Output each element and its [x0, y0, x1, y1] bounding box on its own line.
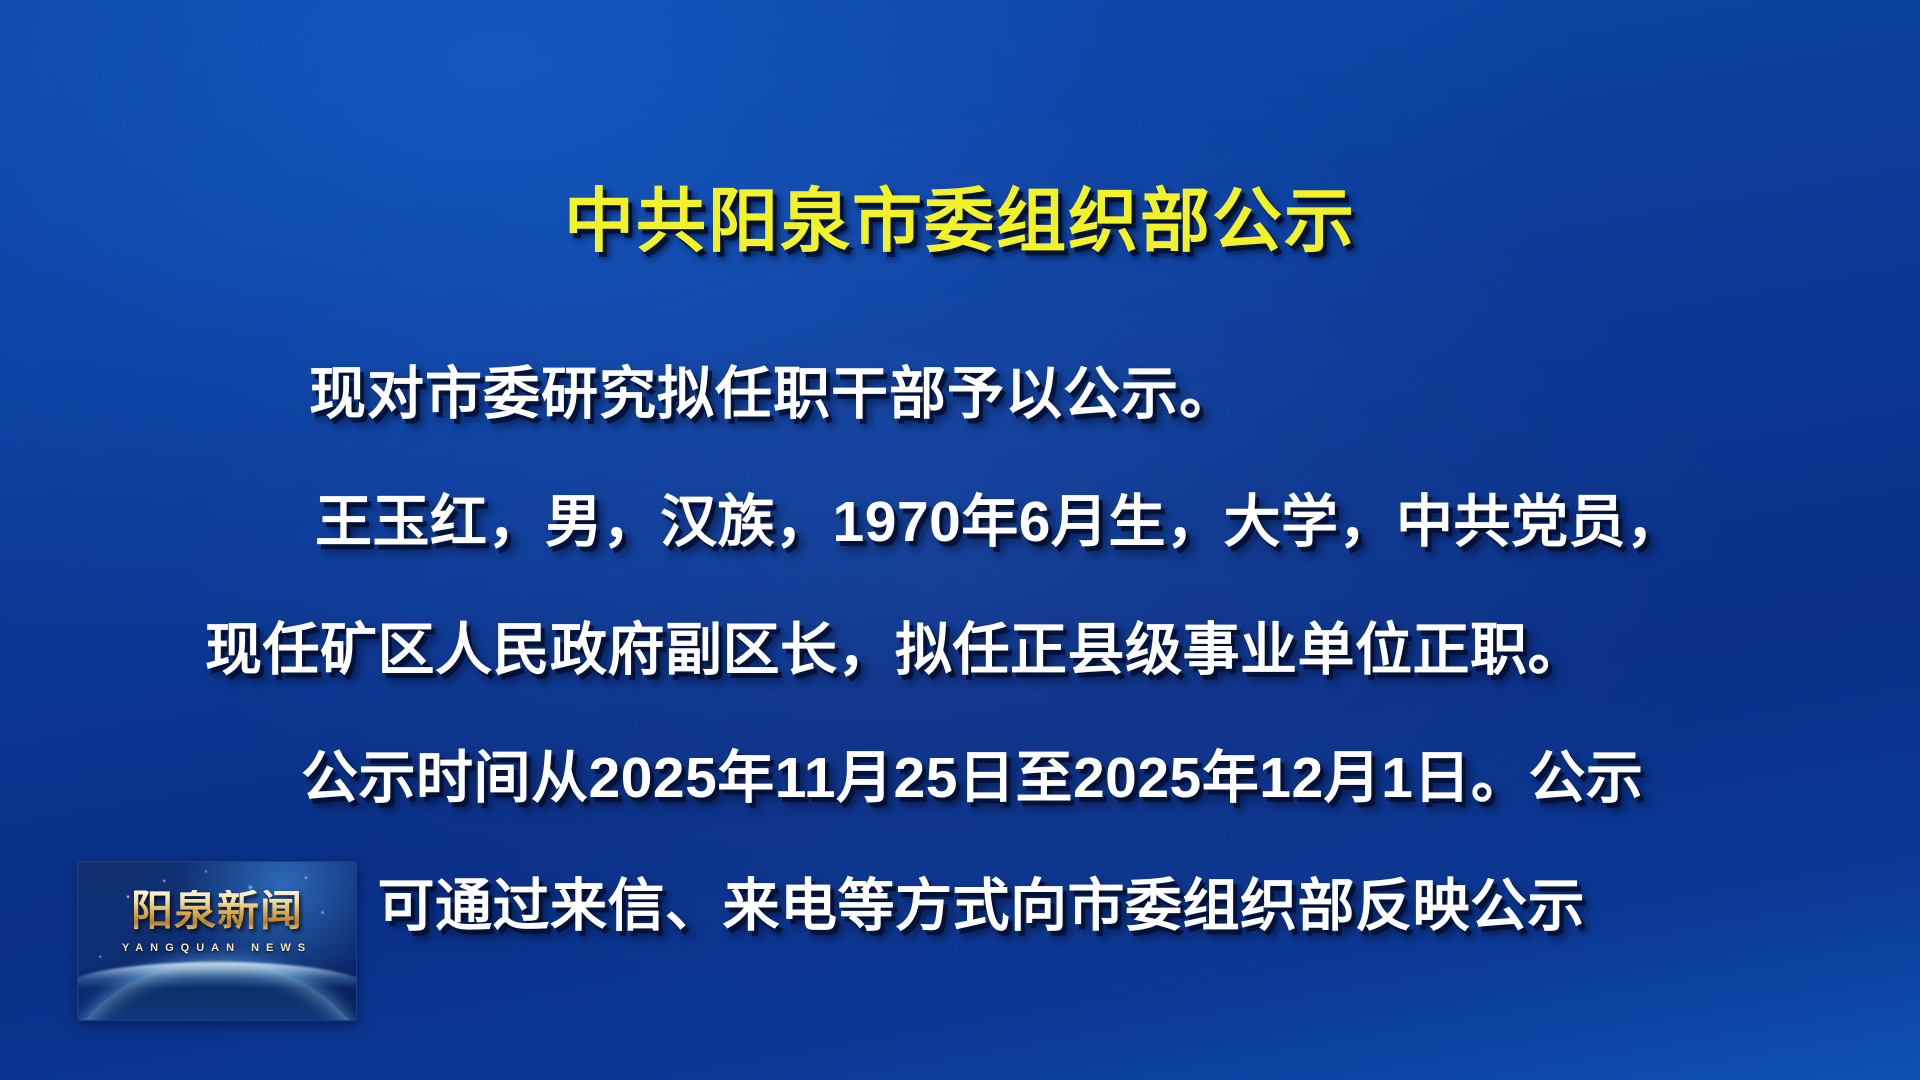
- announcement-body: 现对市委研究拟任职干部予以公示。 王玉红，男，汉族，1970年6月生，大学，中共…: [205, 330, 1725, 970]
- body-line: 公示时间从2025年11月25日至2025年12月1日。公示: [205, 714, 1725, 842]
- station-logo-subtitle: YANGQUAN NEWS: [78, 942, 356, 954]
- body-line: 现对市委研究拟任职干部予以公示。: [205, 330, 1725, 458]
- broadcast-slate: 中共阳泉市委组织部公示 现对市委研究拟任职干部予以公示。 王玉红，男，汉族，19…: [0, 0, 1920, 1080]
- body-line: 现任矿区人民政府副区长，拟任正县级事业单位正职。: [205, 586, 1725, 714]
- globe-icon: [78, 960, 356, 1020]
- page-title: 中共阳泉市委组织部公示: [0, 186, 1920, 256]
- body-line: 期间，可通过来信、来电等方式向市委组织部反映公示: [205, 842, 1725, 970]
- station-logo: 阳泉新闻 YANGQUAN NEWS: [78, 862, 356, 1020]
- body-line: 王玉红，男，汉族，1970年6月生，大学，中共党员，: [205, 458, 1725, 586]
- station-logo-title: 阳泉新闻: [78, 890, 356, 932]
